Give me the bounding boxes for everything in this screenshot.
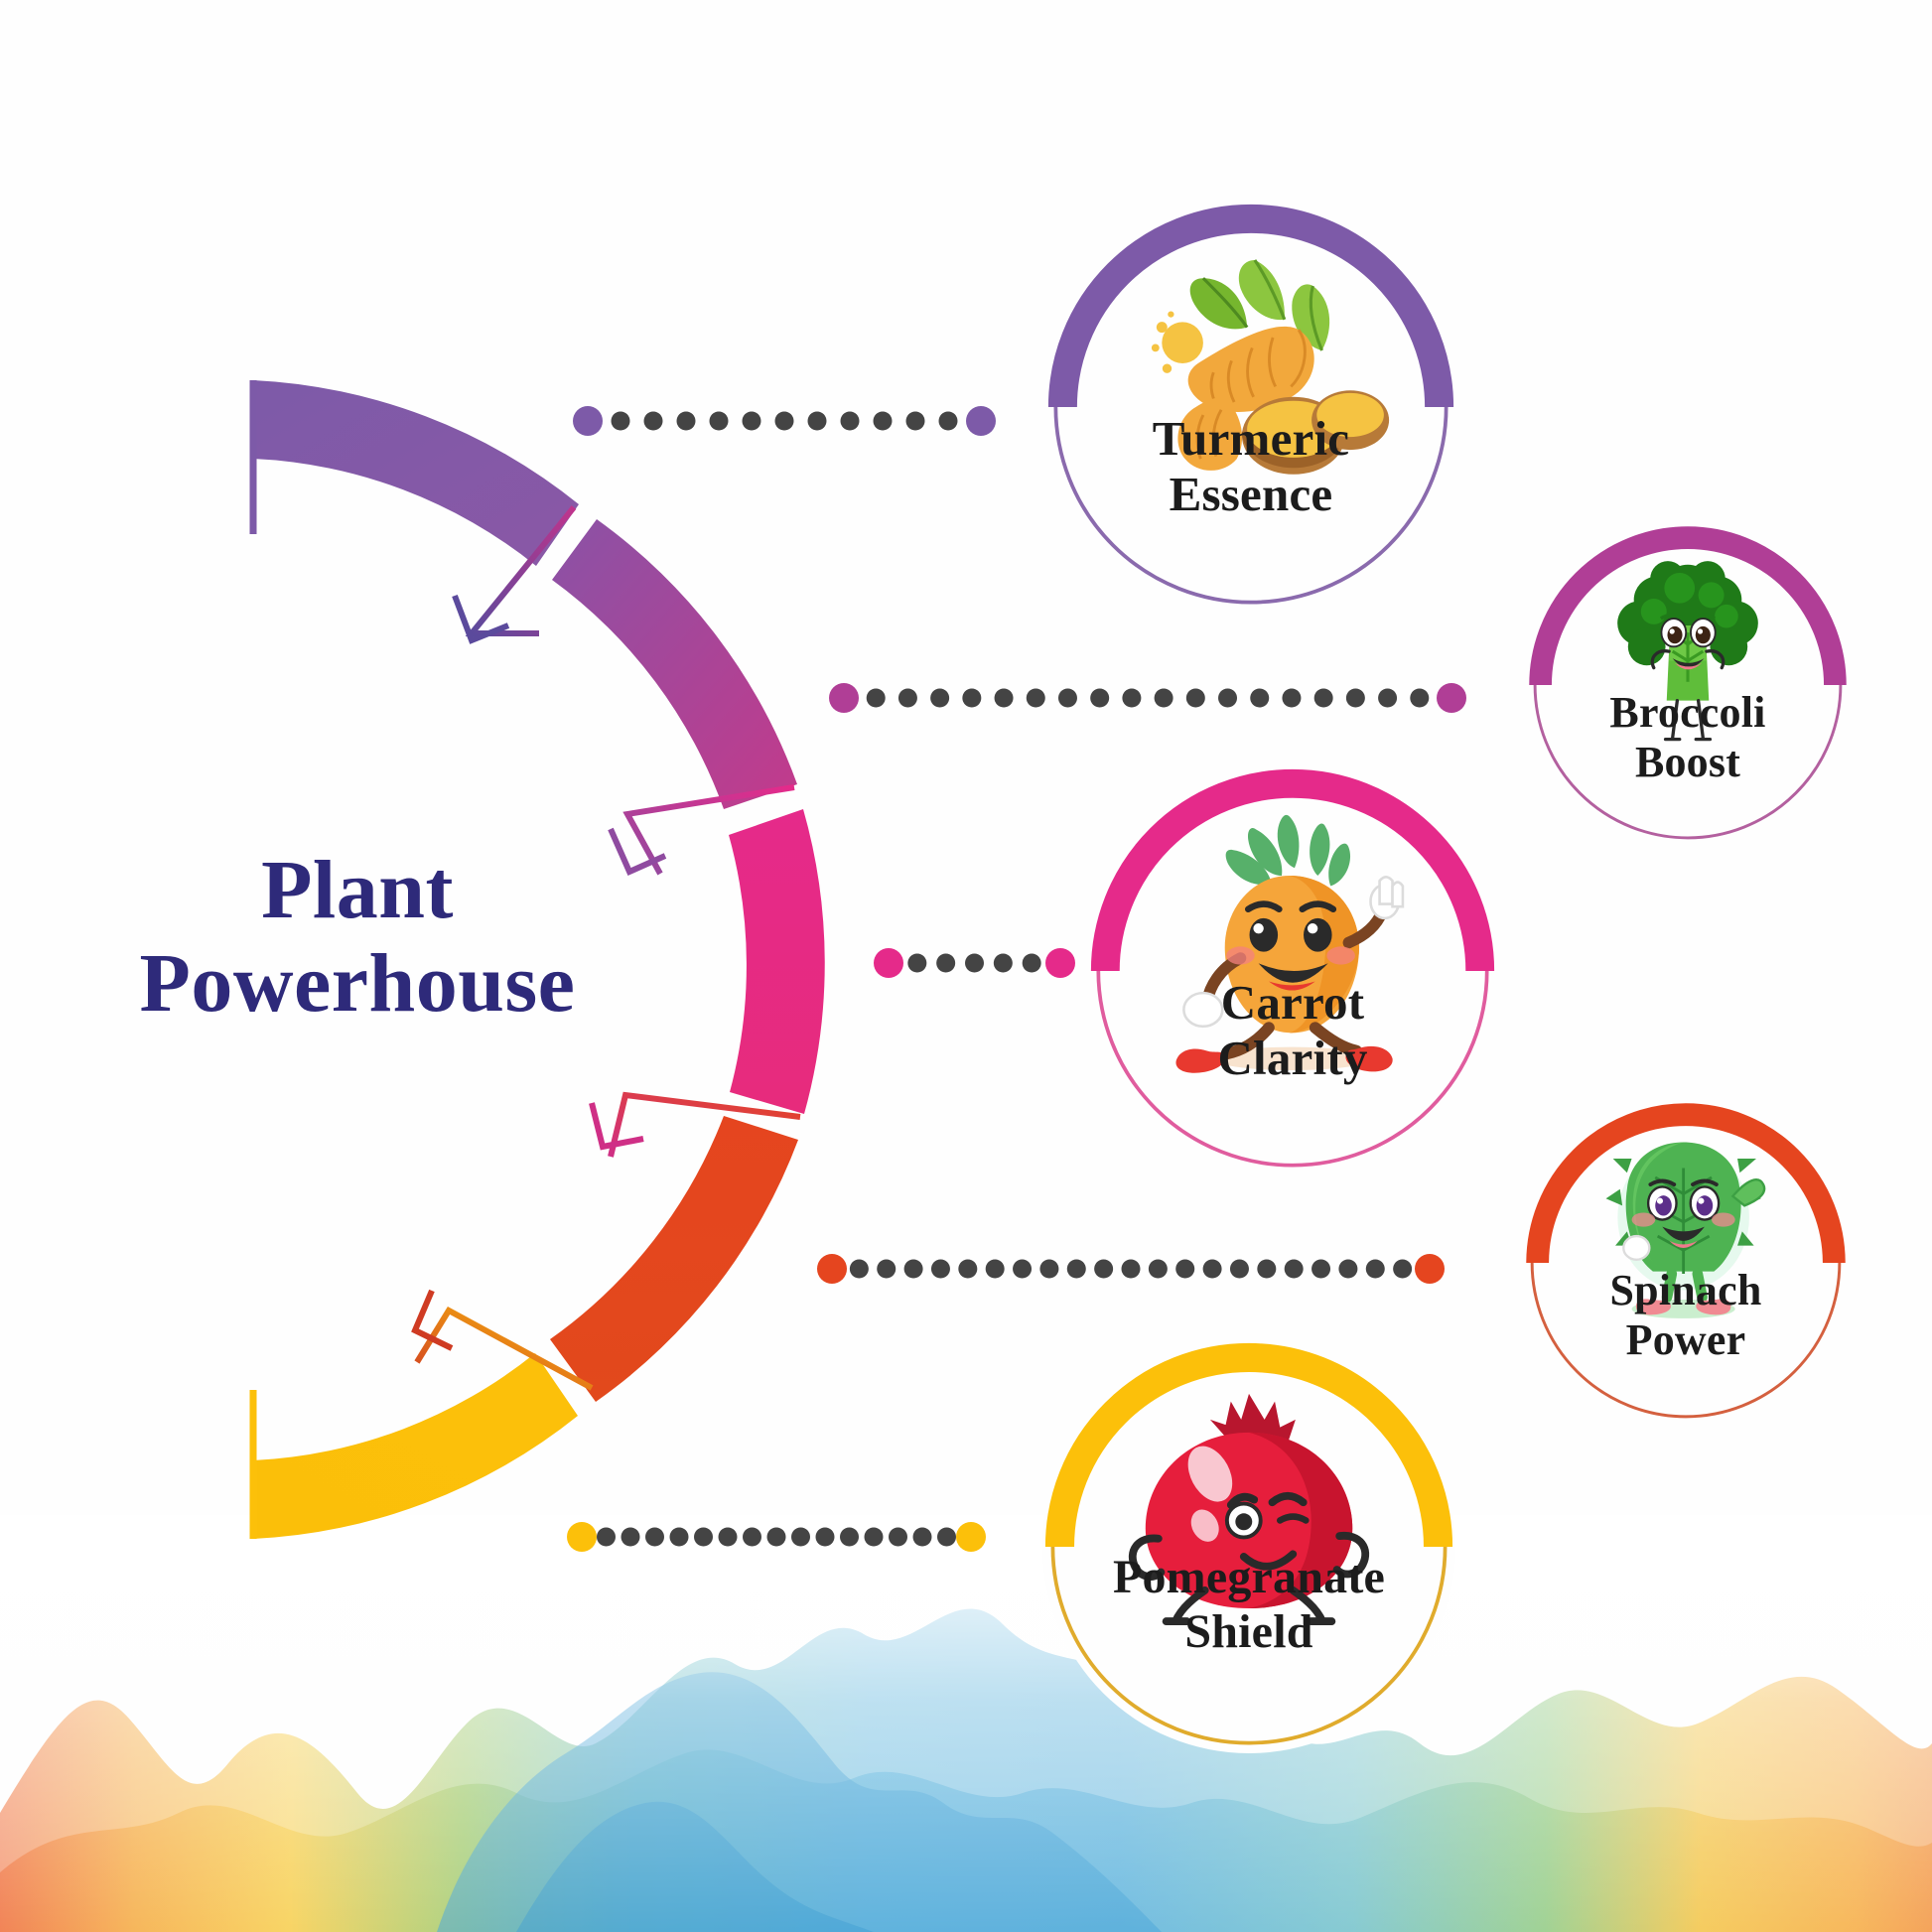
connector-broccoli-dot (1250, 689, 1269, 708)
connector-broccoli-start-dot (829, 683, 859, 713)
connector-pomegranate-dot (865, 1528, 884, 1547)
node-broccoli[interactable]: Broccoli Boost (1527, 524, 1849, 846)
connector-pomegranate-dot (621, 1528, 640, 1547)
connector-broccoli-dot (1346, 689, 1365, 708)
connector-pomegranate-dot (670, 1528, 689, 1547)
connector-carrot-dot (994, 954, 1013, 973)
node-label-line-2: Clarity (1088, 1031, 1497, 1086)
connector-spinach-dot (1067, 1260, 1086, 1279)
connector-pomegranate-dot (597, 1528, 616, 1547)
node-label-carrot: Carrot Clarity (1088, 975, 1497, 1086)
connector-broccoli-dot (898, 689, 917, 708)
connector-spinach-dot (1257, 1260, 1276, 1279)
connector-pomegranate-end-dot (956, 1522, 986, 1552)
node-label-line-2: Essence (1045, 467, 1456, 522)
connector-spinach-dot (1013, 1260, 1032, 1279)
connector-pomegranate-dot (719, 1528, 738, 1547)
connector-pomegranate (567, 1522, 986, 1552)
connector-spinach-dot (986, 1260, 1005, 1279)
node-carrot[interactable]: Carrot Clarity (1088, 766, 1497, 1175)
node-spinach[interactable]: Spinach Power (1524, 1101, 1848, 1425)
connector-carrot-end-dot (1045, 948, 1075, 978)
node-label-line-1: Pomegranate (1042, 1551, 1455, 1605)
connector-spinach-dot (1338, 1260, 1357, 1279)
node-turmeric[interactable]: Turmeric Essence (1045, 202, 1456, 613)
connector-broccoli-dot (962, 689, 981, 708)
connector-turmeric-dot (874, 412, 893, 431)
connector-carrot-dot (936, 954, 955, 973)
connector-broccoli-dot (1314, 689, 1333, 708)
node-label-line-2: Power (1524, 1315, 1848, 1365)
connector-broccoli-dot (1090, 689, 1109, 708)
node-pomegranate[interactable]: Pomegranate Shield (1042, 1340, 1455, 1753)
connector-broccoli-dot (1378, 689, 1397, 708)
node-label-line-2: Boost (1527, 738, 1849, 787)
connector-spinach-dot (1230, 1260, 1249, 1279)
connector-carrot-start-dot (874, 948, 903, 978)
connector-pomegranate-dot (840, 1528, 859, 1547)
connector-spinach-dot (1149, 1260, 1168, 1279)
connector-spinach-dot (1285, 1260, 1304, 1279)
connector-spinach-dot (1094, 1260, 1113, 1279)
page-title-line-2: Powerhouse (60, 937, 655, 1031)
connector-broccoli-dot (1410, 689, 1429, 708)
connector-broccoli-dot (930, 689, 949, 708)
connector-broccoli-dot (1186, 689, 1205, 708)
connector-spinach-dot (1039, 1260, 1058, 1279)
connector-broccoli-end-dot (1437, 683, 1466, 713)
node-label-line-1: Broccoli (1527, 688, 1849, 738)
connector-turmeric-dot (612, 412, 630, 431)
connector-spinach-dot (904, 1260, 923, 1279)
connector-turmeric-end-dot (966, 406, 996, 436)
connector-pomegranate-dot (694, 1528, 713, 1547)
connector-pomegranate-dot (913, 1528, 932, 1547)
connector-pomegranate-dot (816, 1528, 835, 1547)
connector-broccoli-dot (1282, 689, 1301, 708)
connector-turmeric-dot (808, 412, 827, 431)
connector-spinach (817, 1254, 1445, 1284)
connector-pomegranate-start-dot (567, 1522, 597, 1552)
connector-turmeric-dot (677, 412, 696, 431)
connector-pomegranate-dot (791, 1528, 810, 1547)
connector-turmeric-dot (939, 412, 958, 431)
connector-broccoli-dot (1122, 689, 1141, 708)
node-label-turmeric: Turmeric Essence (1045, 411, 1456, 522)
connector-pomegranate-dot (937, 1528, 956, 1547)
connector-carrot-dot (1023, 954, 1041, 973)
connector-turmeric (573, 406, 996, 436)
connector-broccoli-dot (1027, 689, 1045, 708)
connector-pomegranate-dot (889, 1528, 907, 1547)
connector-pomegranate-dot (743, 1528, 761, 1547)
connector-broccoli-dot (1058, 689, 1077, 708)
connector-spinach-start-dot (817, 1254, 847, 1284)
infographic-canvas: Plant Powerhouse (0, 0, 1932, 1932)
node-label-line-1: Turmeric (1045, 411, 1456, 467)
connector-spinach-dot (1366, 1260, 1385, 1279)
connector-spinach-dot (1203, 1260, 1222, 1279)
node-label-line-2: Shield (1042, 1605, 1455, 1660)
connector-spinach-dot (958, 1260, 977, 1279)
node-label-pomegranate: Pomegranate Shield (1042, 1551, 1455, 1659)
page-title: Plant Powerhouse (60, 844, 655, 1031)
connector-pomegranate-dot (767, 1528, 786, 1547)
node-label-line-1: Spinach (1524, 1266, 1848, 1315)
node-label-line-1: Carrot (1088, 975, 1497, 1031)
connector-broccoli (829, 683, 1466, 713)
connector-turmeric-dot (743, 412, 761, 431)
connector-pomegranate-dot (645, 1528, 664, 1547)
connector-carrot (874, 948, 1075, 978)
connector-carrot-dot (965, 954, 984, 973)
connector-turmeric-dot (906, 412, 925, 431)
connector-spinach-dot (1311, 1260, 1330, 1279)
node-label-spinach: Spinach Power (1524, 1266, 1848, 1365)
connector-turmeric-start-dot (573, 406, 603, 436)
connector-turmeric-dot (710, 412, 729, 431)
connector-broccoli-dot (995, 689, 1014, 708)
connector-broccoli-dot (1218, 689, 1237, 708)
connector-spinach-dot (1175, 1260, 1194, 1279)
connector-broccoli-dot (867, 689, 886, 708)
connector-spinach-end-dot (1415, 1254, 1445, 1284)
connector-spinach-dot (850, 1260, 869, 1279)
connector-turmeric-dot (775, 412, 794, 431)
connector-turmeric-dot (841, 412, 860, 431)
connector-spinach-dot (877, 1260, 896, 1279)
connector-broccoli-dot (1155, 689, 1173, 708)
connector-spinach-dot (1393, 1260, 1412, 1279)
connector-turmeric-dot (644, 412, 663, 431)
connector-carrot-dot (907, 954, 926, 973)
page-title-line-1: Plant (60, 844, 655, 937)
connector-spinach-dot (1122, 1260, 1141, 1279)
node-label-broccoli: Broccoli Boost (1527, 688, 1849, 787)
connector-spinach-dot (931, 1260, 950, 1279)
